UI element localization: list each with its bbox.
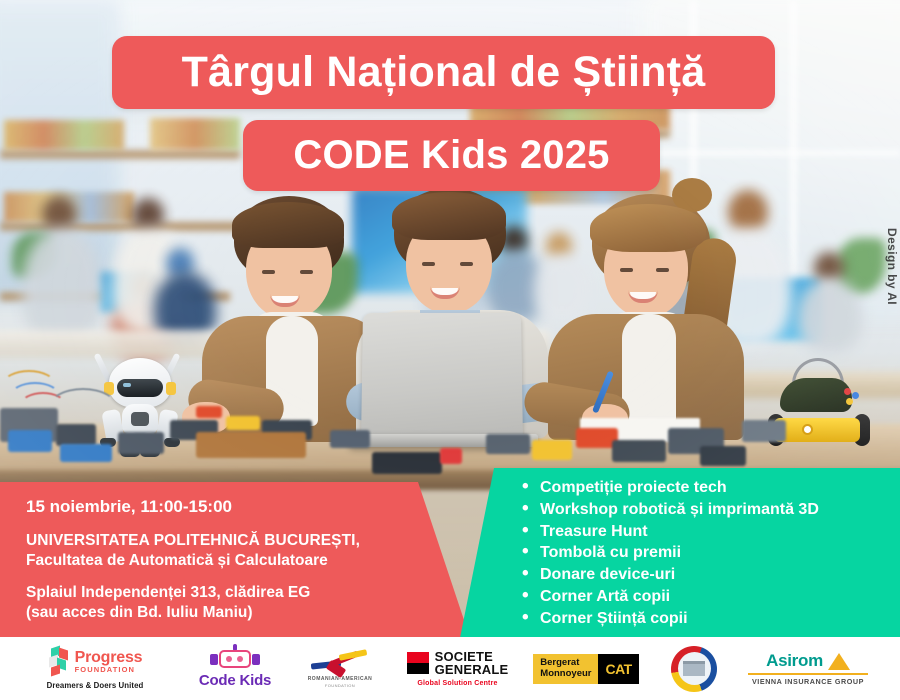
event-venue-university: UNIVERSITATEA POLITEHNICĂ BUCUREȘTI, — [26, 531, 406, 551]
sponsor-logo-progress-foundation: Progress FOUNDATION Dreamers & Doers Uni… — [30, 637, 160, 700]
sponsor-logo-code-kids: Code Kids — [180, 637, 290, 700]
background-person — [798, 278, 862, 352]
child-right — [540, 190, 750, 446]
rover-led — [846, 398, 853, 405]
kit-part — [8, 430, 52, 452]
asirom-name: Asirom — [766, 651, 823, 671]
bergerat-monnoyeur-name-line1: Bergerat — [540, 658, 591, 669]
poster-title-line1: Târgul Național de Știință — [112, 36, 775, 109]
societe-generale-name-line2: GENERALE — [435, 663, 509, 676]
hair-fringe — [232, 202, 344, 248]
kit-part — [372, 452, 442, 474]
activity-item: Corner Știință copii — [522, 608, 819, 630]
kit-part — [700, 446, 746, 466]
sponsor-logo-universitatea-politehnica-bucuresti — [655, 637, 733, 700]
background-person — [132, 198, 164, 232]
event-address-access: (sau acces din Bd. Iuliu Maniu) — [26, 603, 406, 623]
wire — [48, 388, 118, 428]
event-info-panel: 15 noiembrie, 11:00-15:00 UNIVERSITATEA … — [0, 482, 470, 638]
rover-led — [852, 392, 859, 399]
eye — [422, 262, 435, 266]
activities-list: Competiție proiecte tech Workshop roboti… — [522, 477, 819, 630]
activity-item: Workshop robotică și imprimantă 3D — [522, 499, 819, 521]
eye — [460, 262, 473, 266]
kit-part — [226, 416, 260, 430]
code-kids-name: Code Kids — [199, 672, 271, 689]
poster: Târgul Național de Știință CODE Kids 202… — [0, 0, 900, 700]
kit-part — [612, 440, 666, 462]
progress-foundation-icon — [48, 647, 70, 677]
robot-visor — [117, 379, 163, 397]
progress-foundation-tagline: Dreamers & Doers United — [47, 681, 144, 690]
rover-chassis — [774, 418, 860, 442]
activity-item: Tombolă cu premii — [522, 542, 819, 564]
cat-badge: CAT — [598, 654, 638, 684]
progress-foundation-sub: FOUNDATION — [75, 666, 143, 674]
activity-item: Treasure Hunt — [522, 521, 819, 543]
asirom-underline — [748, 673, 868, 675]
kit-part — [486, 434, 530, 454]
eye — [262, 270, 275, 274]
kit-part — [532, 440, 572, 460]
eye — [300, 270, 313, 274]
kit-part — [60, 444, 112, 462]
kit-part — [330, 430, 370, 448]
rover-body — [780, 378, 852, 412]
background-person — [42, 196, 76, 232]
kit-part — [742, 420, 786, 442]
asirom-icon — [828, 653, 850, 670]
sponsor-logo-romanian-american-foundation: ROMANIAN-AMERICAN FOUNDATION — [300, 637, 380, 700]
kit-part — [56, 424, 96, 446]
robot-torso — [122, 404, 158, 434]
window-mullion — [640, 150, 900, 156]
activities-panel: Competiție proiecte tech Workshop roboti… — [460, 468, 900, 638]
sponsor-logo-societe-generale: SOCIETE GENERALE Global Solution Centre — [395, 637, 520, 700]
romanian-american-foundation-bird-icon — [309, 650, 371, 676]
asirom-sub: VIENNA INSURANCE GROUP — [752, 677, 864, 686]
progress-foundation-name: Progress — [75, 650, 143, 666]
eye — [656, 268, 669, 272]
upb-crest-icon — [671, 646, 717, 692]
societe-generale-sub: Global Solution Centre — [417, 680, 497, 687]
rover-button — [802, 424, 813, 435]
design-credit: Design by AI — [885, 228, 899, 305]
event-venue-faculty: Facultatea de Automatică și Calculatoare — [26, 551, 406, 571]
bergerat-monnoyeur-name-line2: Monnoyeur — [540, 669, 591, 680]
hair-fringe — [392, 192, 506, 240]
upb-building-glyph — [683, 661, 705, 676]
hair-fringe — [590, 204, 706, 252]
sponsor-logo-strip: Progress FOUNDATION Dreamers & Doers Uni… — [0, 637, 900, 700]
activity-item: Donare device-uri — [522, 564, 819, 586]
poster-title-line2: CODE Kids 2025 — [243, 120, 660, 191]
sponsor-logo-bergerat-monnoyeur: Bergerat Monnoyeur CAT — [522, 637, 650, 700]
code-kids-robot-icon — [209, 648, 261, 670]
romanian-american-foundation-sub: FOUNDATION — [325, 683, 355, 688]
sponsor-logo-asirom: Asirom VIENNA INSURANCE GROUP — [748, 637, 868, 700]
bookshelf — [0, 150, 240, 159]
kit-part — [196, 432, 306, 458]
background-person — [22, 228, 102, 346]
event-address-street: Splaiul Independenței 313, clădirea EG — [26, 583, 406, 603]
eye — [620, 268, 633, 272]
books — [4, 120, 124, 150]
robot-ear — [166, 382, 176, 395]
rover-led — [844, 388, 851, 395]
kit-part — [118, 432, 164, 454]
activity-item: Corner Artă copii — [522, 586, 819, 608]
books — [150, 118, 240, 150]
event-datetime: 15 noiembrie, 11:00-15:00 — [26, 496, 406, 518]
laptop-screen — [361, 313, 523, 441]
kit-part — [196, 406, 222, 418]
kit-part — [440, 448, 462, 464]
activity-item: Competiție proiecte tech — [522, 477, 819, 499]
societe-generale-icon — [407, 652, 429, 674]
rover-robot — [766, 374, 870, 456]
societe-generale-name-line1: SOCIETE — [435, 650, 509, 663]
undershirt-front — [622, 314, 676, 424]
